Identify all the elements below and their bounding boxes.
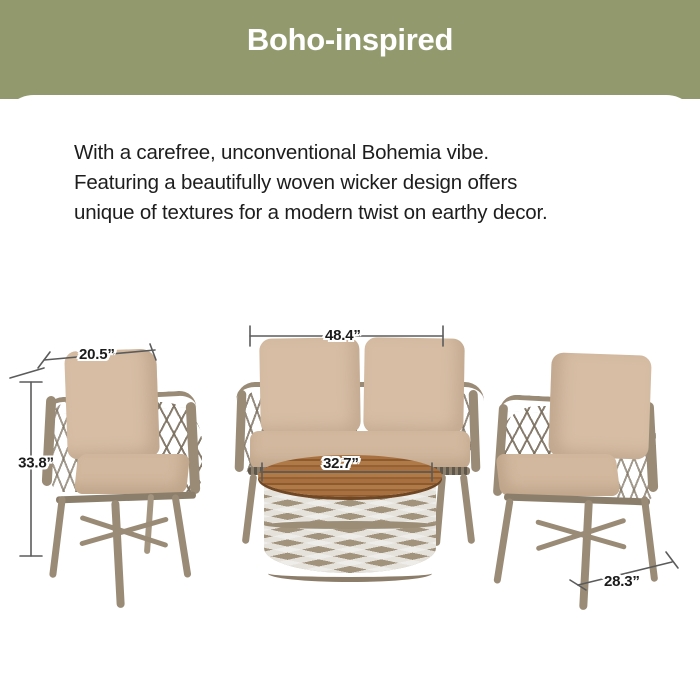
page-title: Boho-inspired — [0, 22, 700, 58]
right-chair-back-cushion — [548, 352, 652, 459]
coffee-table-mid-ring — [264, 521, 436, 529]
description-line-3: unique of textures for a modern twist on… — [74, 198, 654, 228]
description-line-2: Featuring a beautifully woven wicker des… — [74, 168, 654, 198]
left-chair-seat-cushion — [74, 454, 190, 494]
dim-label-loveseat-width: 48.4” — [325, 327, 361, 344]
right-chair-leg-2 — [579, 500, 593, 610]
left-chair-leg-3 — [171, 494, 191, 578]
loveseat-leg-4 — [460, 474, 475, 544]
loveseat-back-cushion-right — [363, 337, 465, 435]
right-accent-chair — [478, 354, 678, 616]
dim-label-chair-width: 20.5” — [79, 346, 115, 363]
loveseat-back-cushion-left — [259, 337, 361, 435]
dim-label-chair-depth: 28.3” — [604, 573, 640, 590]
dim-label-table-diameter: 32.7” — [323, 455, 359, 472]
right-chair-seat-cushion — [495, 454, 620, 496]
right-chair-leg-1 — [493, 498, 513, 584]
left-chair-back-cushion — [64, 348, 160, 459]
description-line-1: With a carefree, unconventional Bohemia … — [74, 138, 654, 168]
left-chair-leg-2 — [111, 500, 125, 608]
description-text: With a carefree, unconventional Bohemia … — [74, 138, 654, 228]
dim-label-chair-height: 33.8” — [18, 455, 54, 472]
coffee-table-bottom-ring — [268, 565, 432, 582]
loveseat-leg-1 — [242, 474, 257, 544]
product-info-card: Boho-inspired With a carefree, unconvent… — [0, 0, 700, 700]
right-chair-leg-3 — [641, 496, 658, 582]
left-chair-leg-1 — [49, 496, 66, 578]
left-accent-chair — [28, 344, 218, 609]
coffee-table — [258, 455, 442, 595]
